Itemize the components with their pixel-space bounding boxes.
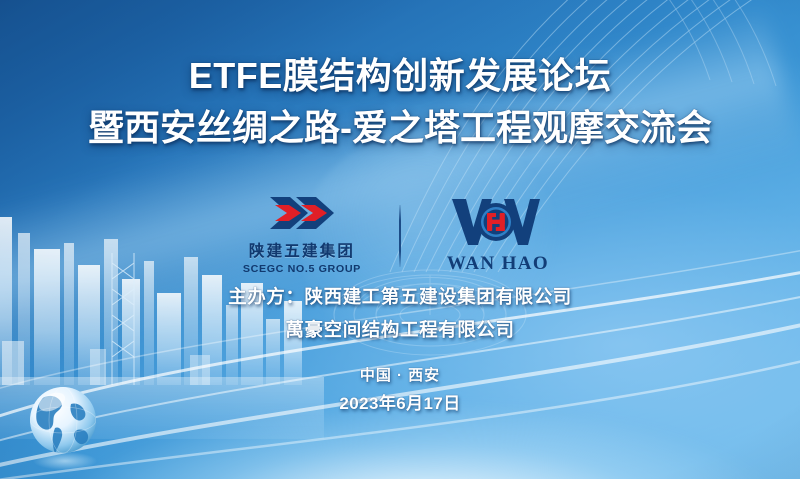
wanhao-name-en: WAN HAO <box>447 253 549 275</box>
scegc-name-cn: 陕建五建集团 <box>249 239 355 261</box>
scegc-double-chevron-mark <box>266 196 338 230</box>
logo-divider <box>399 205 401 267</box>
footer-block: 中国 · 西安 2023年6月17日 <box>0 368 800 412</box>
organizer-line-1: 主办方：陕西建工第五建设集团有限公司 <box>0 288 800 307</box>
organizer-line-2: 萬豪空间结构工程有限公司 <box>0 321 800 340</box>
event-date: 2023年6月17日 <box>0 395 800 412</box>
poster-title-block: ETFE膜结构创新发展论坛 暨西安丝绸之路-爱之塔工程观摩交流会 <box>0 58 800 146</box>
sponsor-logos-row: 陕建五建集团 SCEGC NO.5 GROUP <box>0 196 800 275</box>
wanhao-logo: WAN HAO <box>423 197 573 275</box>
scegc-name-en: SCEGC NO.5 GROUP <box>243 263 361 275</box>
organizer-block: 主办方：陕西建工第五建设集团有限公司 萬豪空间结构工程有限公司 <box>0 288 800 339</box>
title-line-1: ETFE膜结构创新发展论坛 <box>0 58 800 94</box>
event-location: 中国 · 西安 <box>0 368 800 383</box>
title-line-2: 暨西安丝绸之路-爱之塔工程观摩交流会 <box>0 110 800 146</box>
wanhao-w-emblem-mark <box>442 197 554 249</box>
event-poster: ETFE膜结构创新发展论坛 暨西安丝绸之路-爱之塔工程观摩交流会 陕建五建集团 … <box>0 0 800 479</box>
scegc-logo: 陕建五建集团 SCEGC NO.5 GROUP <box>227 196 377 275</box>
poster-content: ETFE膜结构创新发展论坛 暨西安丝绸之路-爱之塔工程观摩交流会 陕建五建集团 … <box>0 0 800 479</box>
